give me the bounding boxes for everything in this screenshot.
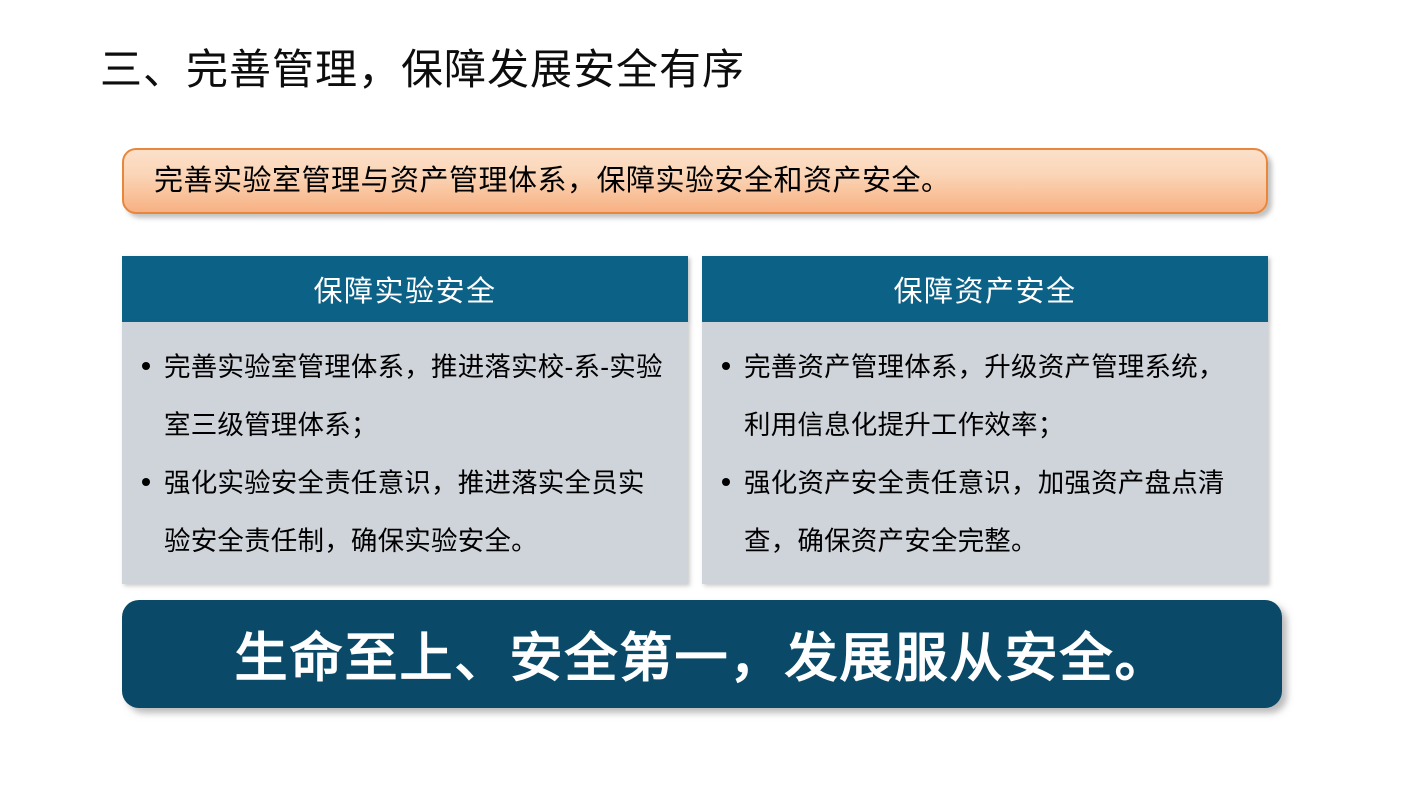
bullet-dot-icon [142,478,150,486]
list-item: 强化资产安全责任意识，加强资产盘点清查，确保资产安全完整。 [720,454,1250,570]
bullet-dot-icon [142,362,150,370]
list-item-text: 强化资产安全责任意识，加强资产盘点清查，确保资产安全完整。 [744,468,1225,556]
slogan-banner: 生命至上、安全第一，发展服从安全。 [122,600,1282,708]
bullet-dot-icon [722,478,730,486]
panel-body-asset-safety: 完善资产管理体系，升级资产管理系统，利用信息化提升工作效率； 强化资产安全责任意… [702,322,1268,584]
bullet-dot-icon [722,362,730,370]
panel-header-label: 保障实验安全 [313,268,496,310]
panel-asset-safety: 保障资产安全 完善资产管理体系，升级资产管理系统，利用信息化提升工作效率； 强化… [702,256,1268,584]
list-item-text: 完善实验室管理体系，推进落实校-系-实验室三级管理体系； [164,352,663,440]
list-item-text: 完善资产管理体系，升级资产管理系统，利用信息化提升工作效率； [744,352,1225,440]
panel-header-label: 保障资产安全 [893,268,1076,310]
page-title: 三、完善管理，保障发展安全有序 [100,46,745,93]
bullet-list-lab-safety: 完善实验室管理体系，推进落实校-系-实验室三级管理体系； 强化实验安全责任意识，… [140,338,670,570]
list-item: 完善实验室管理体系，推进落实校-系-实验室三级管理体系； [140,338,670,454]
column-group: 保障实验安全 完善实验室管理体系，推进落实校-系-实验室三级管理体系； 强化实验… [122,256,1268,584]
list-item: 完善资产管理体系，升级资产管理系统，利用信息化提升工作效率； [720,338,1250,454]
panel-header-asset-safety: 保障资产安全 [702,256,1268,322]
slogan-banner-text: 生命至上、安全第一，发展服从安全。 [235,616,1170,692]
panel-body-lab-safety: 完善实验室管理体系，推进落实校-系-实验室三级管理体系； 强化实验安全责任意识，… [122,322,688,584]
callout-banner: 完善实验室管理与资产管理体系，保障实验安全和资产安全。 [122,148,1268,214]
bullet-list-asset-safety: 完善资产管理体系，升级资产管理系统，利用信息化提升工作效率； 强化资产安全责任意… [720,338,1250,570]
panel-lab-safety: 保障实验安全 完善实验室管理体系，推进落实校-系-实验室三级管理体系； 强化实验… [122,256,688,584]
list-item-text: 强化实验安全责任意识，推进落实全员实验安全责任制，确保实验安全。 [164,468,645,556]
list-item: 强化实验安全责任意识，推进落实全员实验安全责任制，确保实验安全。 [140,454,670,570]
panel-header-lab-safety: 保障实验安全 [122,256,688,322]
callout-banner-text: 完善实验室管理与资产管理体系，保障实验安全和资产安全。 [124,164,951,199]
